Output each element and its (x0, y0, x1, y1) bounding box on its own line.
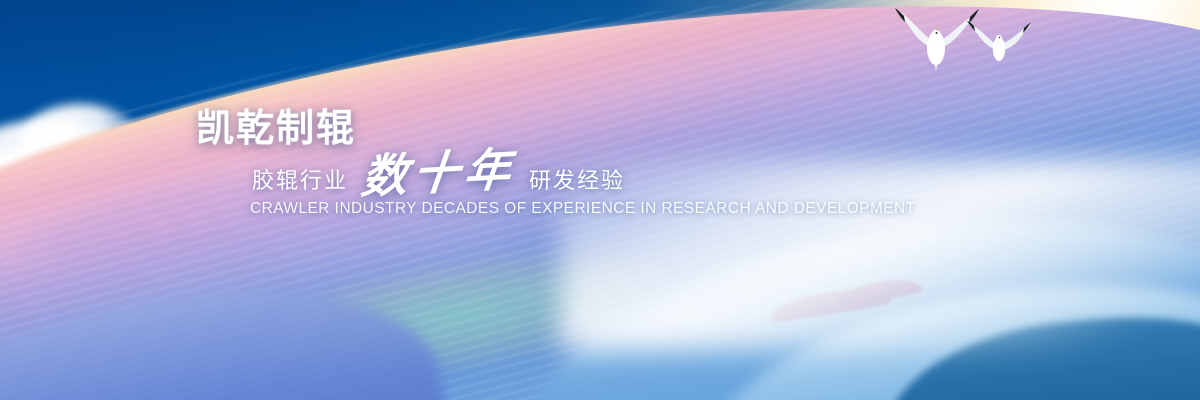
seagull-small-icon (962, 18, 1036, 70)
subheadline-prefix: 胶辊行业 (252, 168, 348, 194)
page-title: 凯乾制辊 (196, 110, 896, 148)
subheadline-suffix: 研发经验 (529, 168, 625, 194)
hero-banner: 凯乾制辊 胶辊行业 数十年 研发经验 CRAWLER INDUSTRY DECA… (0, 0, 1200, 400)
english-tagline: CRAWLER INDUSTRY DECADES OF EXPERIENCE I… (250, 200, 896, 218)
subheadline-emphasis: 数十年 (351, 148, 526, 199)
subheadline: 胶辊行业 数十年 研发经验 (252, 152, 896, 194)
banner-copy: 凯乾制辊 胶辊行业 数十年 研发经验 CRAWLER INDUSTRY DECA… (196, 110, 896, 218)
